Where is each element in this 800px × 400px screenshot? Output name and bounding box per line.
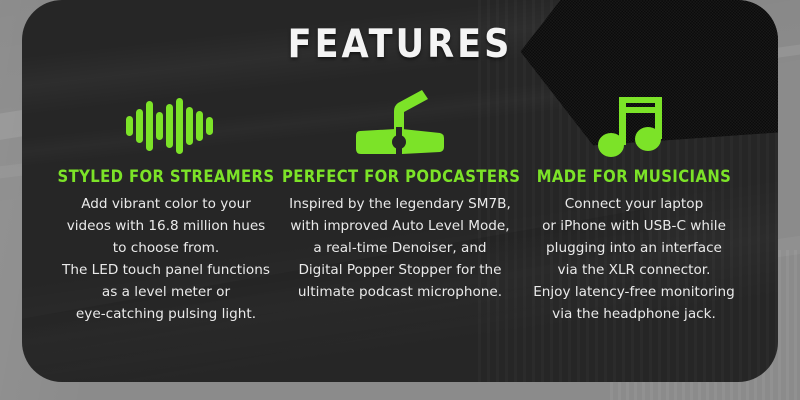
page-title: FEATURES	[22, 22, 778, 67]
body-line: or iPhone with USB-C while	[518, 215, 750, 237]
body-line: as a level meter or	[50, 281, 282, 303]
body-line: videos with 16.8 million hues	[50, 215, 282, 237]
body-line: Connect your laptop	[518, 193, 750, 215]
feature-heading: MADE FOR MUSICIANS	[518, 167, 750, 186]
body-line: eye-catching pulsing light.	[50, 303, 282, 325]
body-line: via the headphone jack.	[518, 303, 750, 325]
feature-body: Add vibrant color to your videos with 16…	[50, 193, 282, 325]
boom-arm-microphone-icon	[282, 85, 518, 167]
body-line: Enjoy latency-free monitoring	[518, 281, 750, 303]
feature-body: Connect your laptop or iPhone with USB-C…	[518, 193, 750, 325]
feature-body: Inspired by the legendary SM7B, with imp…	[282, 193, 518, 303]
body-line: ultimate podcast microphone.	[282, 281, 518, 303]
features-card: FEATURES	[22, 0, 778, 382]
feature-heading: STYLED FOR STREAMERS	[50, 167, 282, 186]
body-line: a real-time Denoiser, and	[282, 237, 518, 259]
body-line: with improved Auto Level Mode,	[282, 215, 518, 237]
body-line: Digital Popper Stopper for the	[282, 259, 518, 281]
music-note-icon	[518, 85, 750, 167]
body-line: Inspired by the legendary SM7B,	[282, 193, 518, 215]
feature-column-podcasters: PERFECT FOR PODCASTERS Inspired by the l…	[282, 85, 518, 303]
body-line: to choose from.	[50, 237, 282, 259]
card-content: FEATURES	[22, 22, 778, 382]
body-line: The LED touch panel functions	[50, 259, 282, 281]
feature-column-musicians: MADE FOR MUSICIANS Connect your laptop o…	[518, 85, 750, 325]
feature-columns: STYLED FOR STREAMERS Add vibrant color t…	[22, 67, 778, 325]
body-line: Add vibrant color to your	[50, 193, 282, 215]
feature-column-streamers: STYLED FOR STREAMERS Add vibrant color t…	[50, 85, 282, 325]
feature-heading: PERFECT FOR PODCASTERS	[282, 167, 518, 186]
audio-waveform-icon	[50, 85, 282, 167]
body-line: via the XLR connector.	[518, 259, 750, 281]
body-line: plugging into an interface	[518, 237, 750, 259]
